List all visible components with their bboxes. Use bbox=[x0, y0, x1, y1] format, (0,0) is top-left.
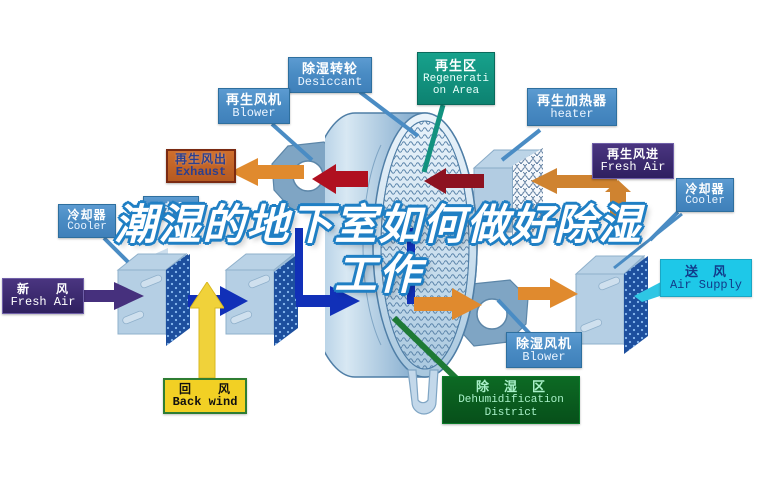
label-cooler-mid[interactable]: 冷却器 bbox=[143, 196, 199, 220]
label-dehum-blower-en: Blower bbox=[522, 351, 565, 364]
label-cooler-left-cn: 冷却器 bbox=[67, 209, 106, 222]
label-desiccant-rotor[interactable]: 除湿转轮 Desiccant bbox=[288, 57, 372, 93]
label-regen-exhaust[interactable]: 再生风出 Exhaust bbox=[166, 149, 236, 183]
diagram-canvas: 除湿转轮 Desiccant 再生风机 Blower 再生区 Regenerat… bbox=[0, 0, 757, 488]
label-regen-area-en: Regenerati on Area bbox=[418, 73, 494, 98]
arrow-blower-to-cooler-orange bbox=[518, 278, 580, 310]
label-air-supply-cn: 送 风 bbox=[685, 265, 727, 279]
label-regen-heater-cn: 再生加热器 bbox=[537, 94, 607, 108]
label-regen-area-cn: 再生区 bbox=[435, 59, 477, 73]
cooler-unit-right bbox=[570, 248, 662, 358]
label-cooler-left-en: Cooler bbox=[67, 222, 107, 234]
label-cooler-left[interactable]: 冷却器 Cooler bbox=[58, 204, 116, 238]
label-back-wind[interactable]: 回 风 Back wind bbox=[163, 378, 247, 414]
label-regen-blower-cn: 再生风机 bbox=[226, 93, 282, 107]
label-dehum-district[interactable]: 除 湿 区 Dehumidification District bbox=[442, 376, 580, 424]
label-fresh-air-in[interactable]: 新 风 Fresh Air bbox=[2, 278, 84, 314]
arrow-regen-fresh-air-up bbox=[605, 180, 631, 232]
label-regen-exhaust-en: Exhaust bbox=[176, 166, 226, 179]
label-desiccant-rotor-cn: 除湿转轮 bbox=[302, 62, 358, 76]
label-back-wind-en: Back wind bbox=[173, 396, 238, 409]
arrow-down-into-duct bbox=[286, 228, 312, 298]
label-cooler-right-en: Cooler bbox=[685, 196, 725, 208]
arrow-fresh-air-in bbox=[80, 282, 146, 316]
label-air-supply-en: Air Supply bbox=[670, 279, 742, 292]
arrow-regen-hot-air-red bbox=[424, 168, 484, 194]
arrow-back-wind-yellow bbox=[190, 282, 224, 378]
label-desiccant-rotor-en: Desiccant bbox=[298, 76, 363, 89]
label-regen-blower-en: Blower bbox=[232, 107, 275, 120]
label-dehum-district-en: Dehumidification District bbox=[443, 394, 579, 420]
label-cooler-right[interactable]: 冷却器 Cooler bbox=[676, 178, 734, 212]
label-regen-heater[interactable]: 再生加热器 heater bbox=[527, 88, 617, 126]
label-air-supply[interactable]: 送 风 Air Supply bbox=[660, 259, 752, 297]
desiccant-rotor-body bbox=[325, 105, 525, 395]
label-dehum-blower-cn: 除湿风机 bbox=[516, 337, 572, 351]
label-dehum-district-cn: 除 湿 区 bbox=[476, 380, 546, 394]
label-regen-area[interactable]: 再生区 Regenerati on Area bbox=[417, 52, 495, 105]
label-dehum-blower[interactable]: 除湿风机 Blower bbox=[506, 332, 582, 368]
label-regen-blower[interactable]: 再生风机 Blower bbox=[218, 88, 290, 124]
arrow-regen-exhaust-red bbox=[312, 164, 368, 194]
label-cooler-right-cn: 冷却器 bbox=[685, 183, 724, 196]
label-fresh-air-in-en: Fresh Air bbox=[11, 296, 76, 309]
label-regen-heater-en: heater bbox=[550, 108, 593, 121]
label-cooler-mid-cn: 冷却器 bbox=[151, 202, 190, 215]
label-regen-fresh-air[interactable]: 再生风进 Fresh Air bbox=[592, 143, 674, 179]
arrow-dehum-to-blower-orange bbox=[414, 288, 484, 322]
arrow-exhaust-orange bbox=[230, 158, 304, 186]
label-regen-fresh-air-en: Fresh Air bbox=[601, 161, 666, 174]
